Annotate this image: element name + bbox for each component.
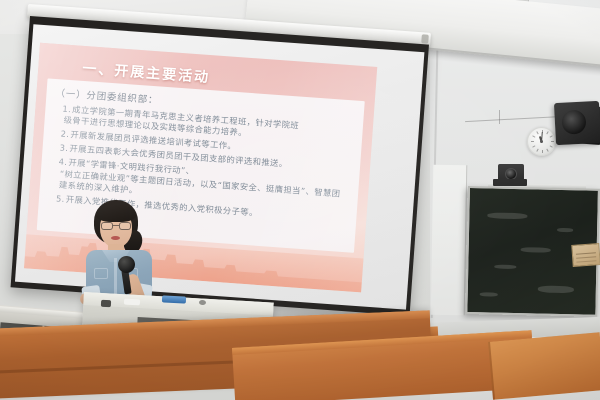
clock-center-pin (540, 140, 543, 143)
roller-knob (421, 34, 429, 43)
hair-fringe (96, 205, 136, 222)
item-number: 1. (62, 104, 72, 115)
wooden-desk-right (488, 332, 600, 400)
microphone-icon (118, 256, 135, 273)
wall-speaker-primary (554, 101, 600, 145)
ceiling-camera-icon (498, 164, 524, 185)
podium-item-blue-object (162, 295, 186, 303)
shirt-pocket-left (94, 268, 108, 279)
wall-clock-icon (527, 127, 556, 156)
podium-item-dark-object (101, 300, 111, 308)
item-number: 3. (59, 143, 69, 154)
eyeglasses-icon (101, 222, 131, 230)
item-number: 4. (58, 157, 68, 168)
item-number: 2. (60, 129, 70, 140)
camera-base (493, 179, 527, 186)
wall-plaque (571, 243, 600, 267)
item-number: 5. (56, 193, 66, 204)
speaker-cone-icon (561, 110, 586, 135)
podium-item-white-object (124, 299, 140, 306)
ceiling-wire-drop (499, 110, 500, 124)
mouth (111, 236, 120, 240)
classroom-photo-scene: 一、开展主要活动 （一）分团委组织部： 1.成立学院第一期青年马克思主义者培养工… (0, 0, 600, 400)
whiteboard-panel (431, 165, 468, 316)
